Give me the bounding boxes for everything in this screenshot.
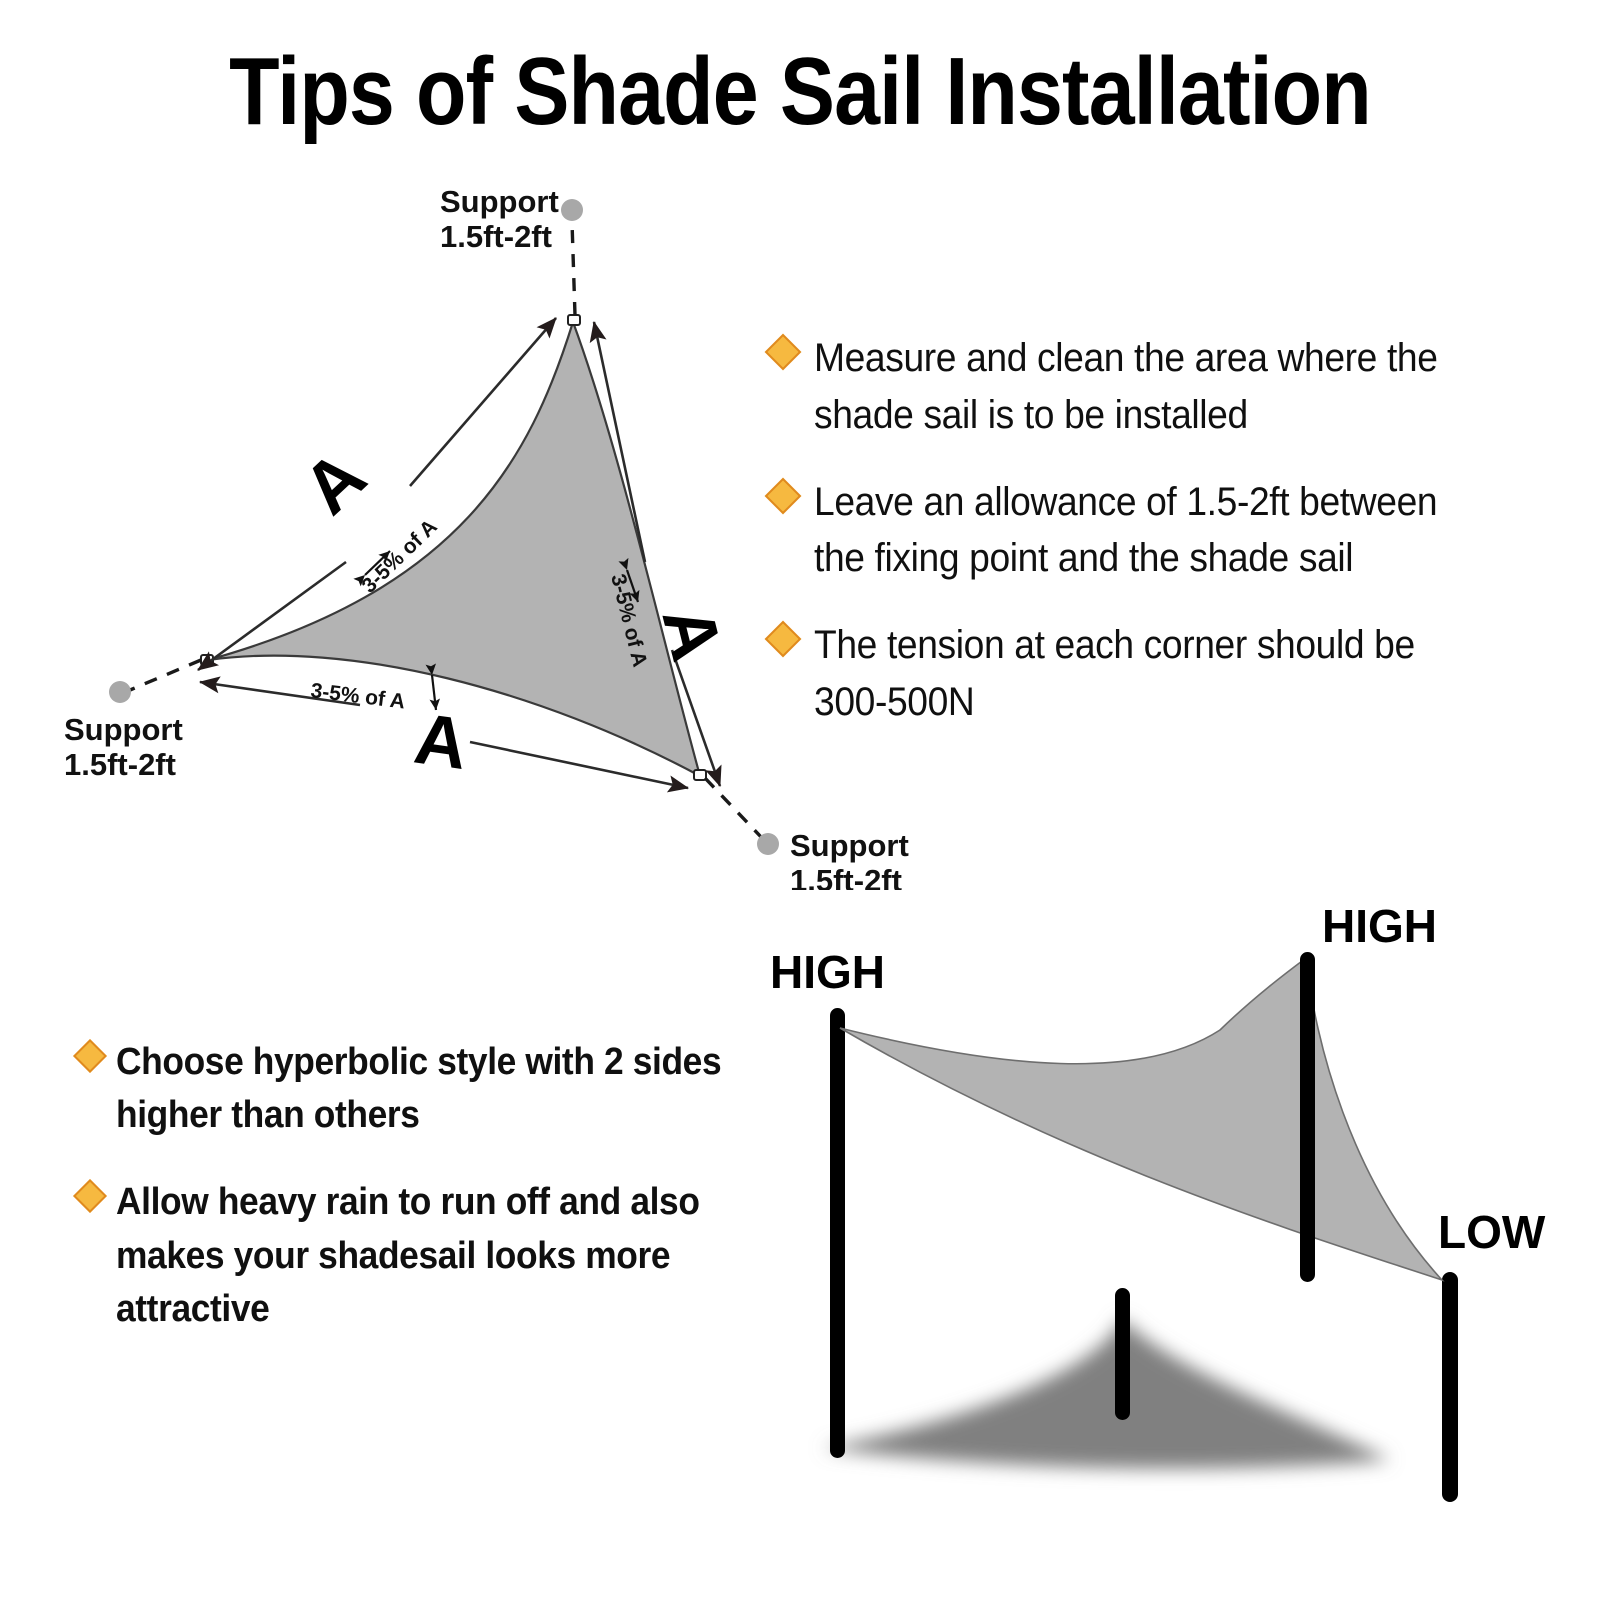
side-label-bottom: A <box>410 699 473 785</box>
support-leader-bottom-right <box>705 778 762 838</box>
post-label-low: LOW <box>1438 1206 1546 1258</box>
support-dot-top <box>561 199 583 221</box>
diamond-bullet-icon <box>73 1039 107 1073</box>
diamond-bullet-icon <box>765 621 802 658</box>
tip-item: Leave an allowance of 1.5-2ft between th… <box>770 474 1530 588</box>
diamond-bullet-icon <box>765 477 802 514</box>
support-label-bottom-right-line2: 1.5ft-2ft <box>790 863 902 890</box>
tip-text: Allow heavy rain to run off and also mak… <box>116 1176 732 1336</box>
tips-list-bottom: Choose hyperbolic style with 2 sides hig… <box>78 1036 778 1370</box>
post-label-left: HIGH <box>770 946 885 998</box>
side-label-left: A <box>288 436 381 530</box>
post-right <box>1300 952 1315 1282</box>
tip-text: Measure and clean the area where the sha… <box>814 330 1480 444</box>
tips-list-right: Measure and clean the area where the sha… <box>770 330 1530 761</box>
tip-text: The tension at each corner should be 300… <box>814 617 1480 731</box>
page-title: Tips of Shade Sail Installation <box>112 44 1488 140</box>
sail-ground-shadow <box>822 1318 1390 1469</box>
tip-item: Measure and clean the area where the sha… <box>770 330 1530 444</box>
tip-item: The tension at each corner should be 300… <box>770 617 1530 731</box>
tip-item: Allow heavy rain to run off and also mak… <box>78 1176 778 1336</box>
post-low <box>1442 1272 1458 1502</box>
support-label-bottom-right: Support 1.5ft-2ft <box>790 828 909 890</box>
tip-item: Choose hyperbolic style with 2 sides hig… <box>78 1036 778 1142</box>
support-leader-top <box>572 222 575 315</box>
tip-text: Leave an allowance of 1.5-2ft between th… <box>814 474 1480 588</box>
support-dot-bottom-right <box>757 833 779 855</box>
support-label-top: Support 1.5ft-2ft <box>440 184 559 254</box>
tip-text: Choose hyperbolic style with 2 sides hig… <box>116 1036 732 1142</box>
diamond-bullet-icon <box>73 1179 107 1213</box>
support-label-bottom-right-line1: Support <box>790 828 909 863</box>
post-label-right: HIGH <box>1322 900 1437 952</box>
support-label-top-line2: 1.5ft-2ft <box>440 219 552 254</box>
fixing-ring-bottom-right <box>694 770 706 780</box>
side-label-right: A <box>646 599 736 669</box>
support-leader-left <box>130 660 201 690</box>
support-label-top-line1: Support <box>440 184 559 219</box>
post-left <box>830 1008 845 1458</box>
fixing-ring-top <box>568 315 580 325</box>
post-middle <box>1115 1288 1130 1420</box>
curve-label-bottom: 3-5% of A <box>309 679 406 713</box>
support-dot-left <box>109 681 131 703</box>
support-label-left-line1: Support <box>64 712 183 747</box>
diamond-bullet-icon <box>765 334 802 371</box>
hyperbolic-sail-diagram: HIGH HIGH LOW <box>770 900 1600 1560</box>
infographic-page: Tips of Shade Sail Installation Support <box>0 0 1600 1600</box>
sail-fabric <box>840 958 1442 1280</box>
support-label-left: Support 1.5ft-2ft <box>64 712 183 782</box>
support-label-left-line2: 1.5ft-2ft <box>64 747 176 782</box>
